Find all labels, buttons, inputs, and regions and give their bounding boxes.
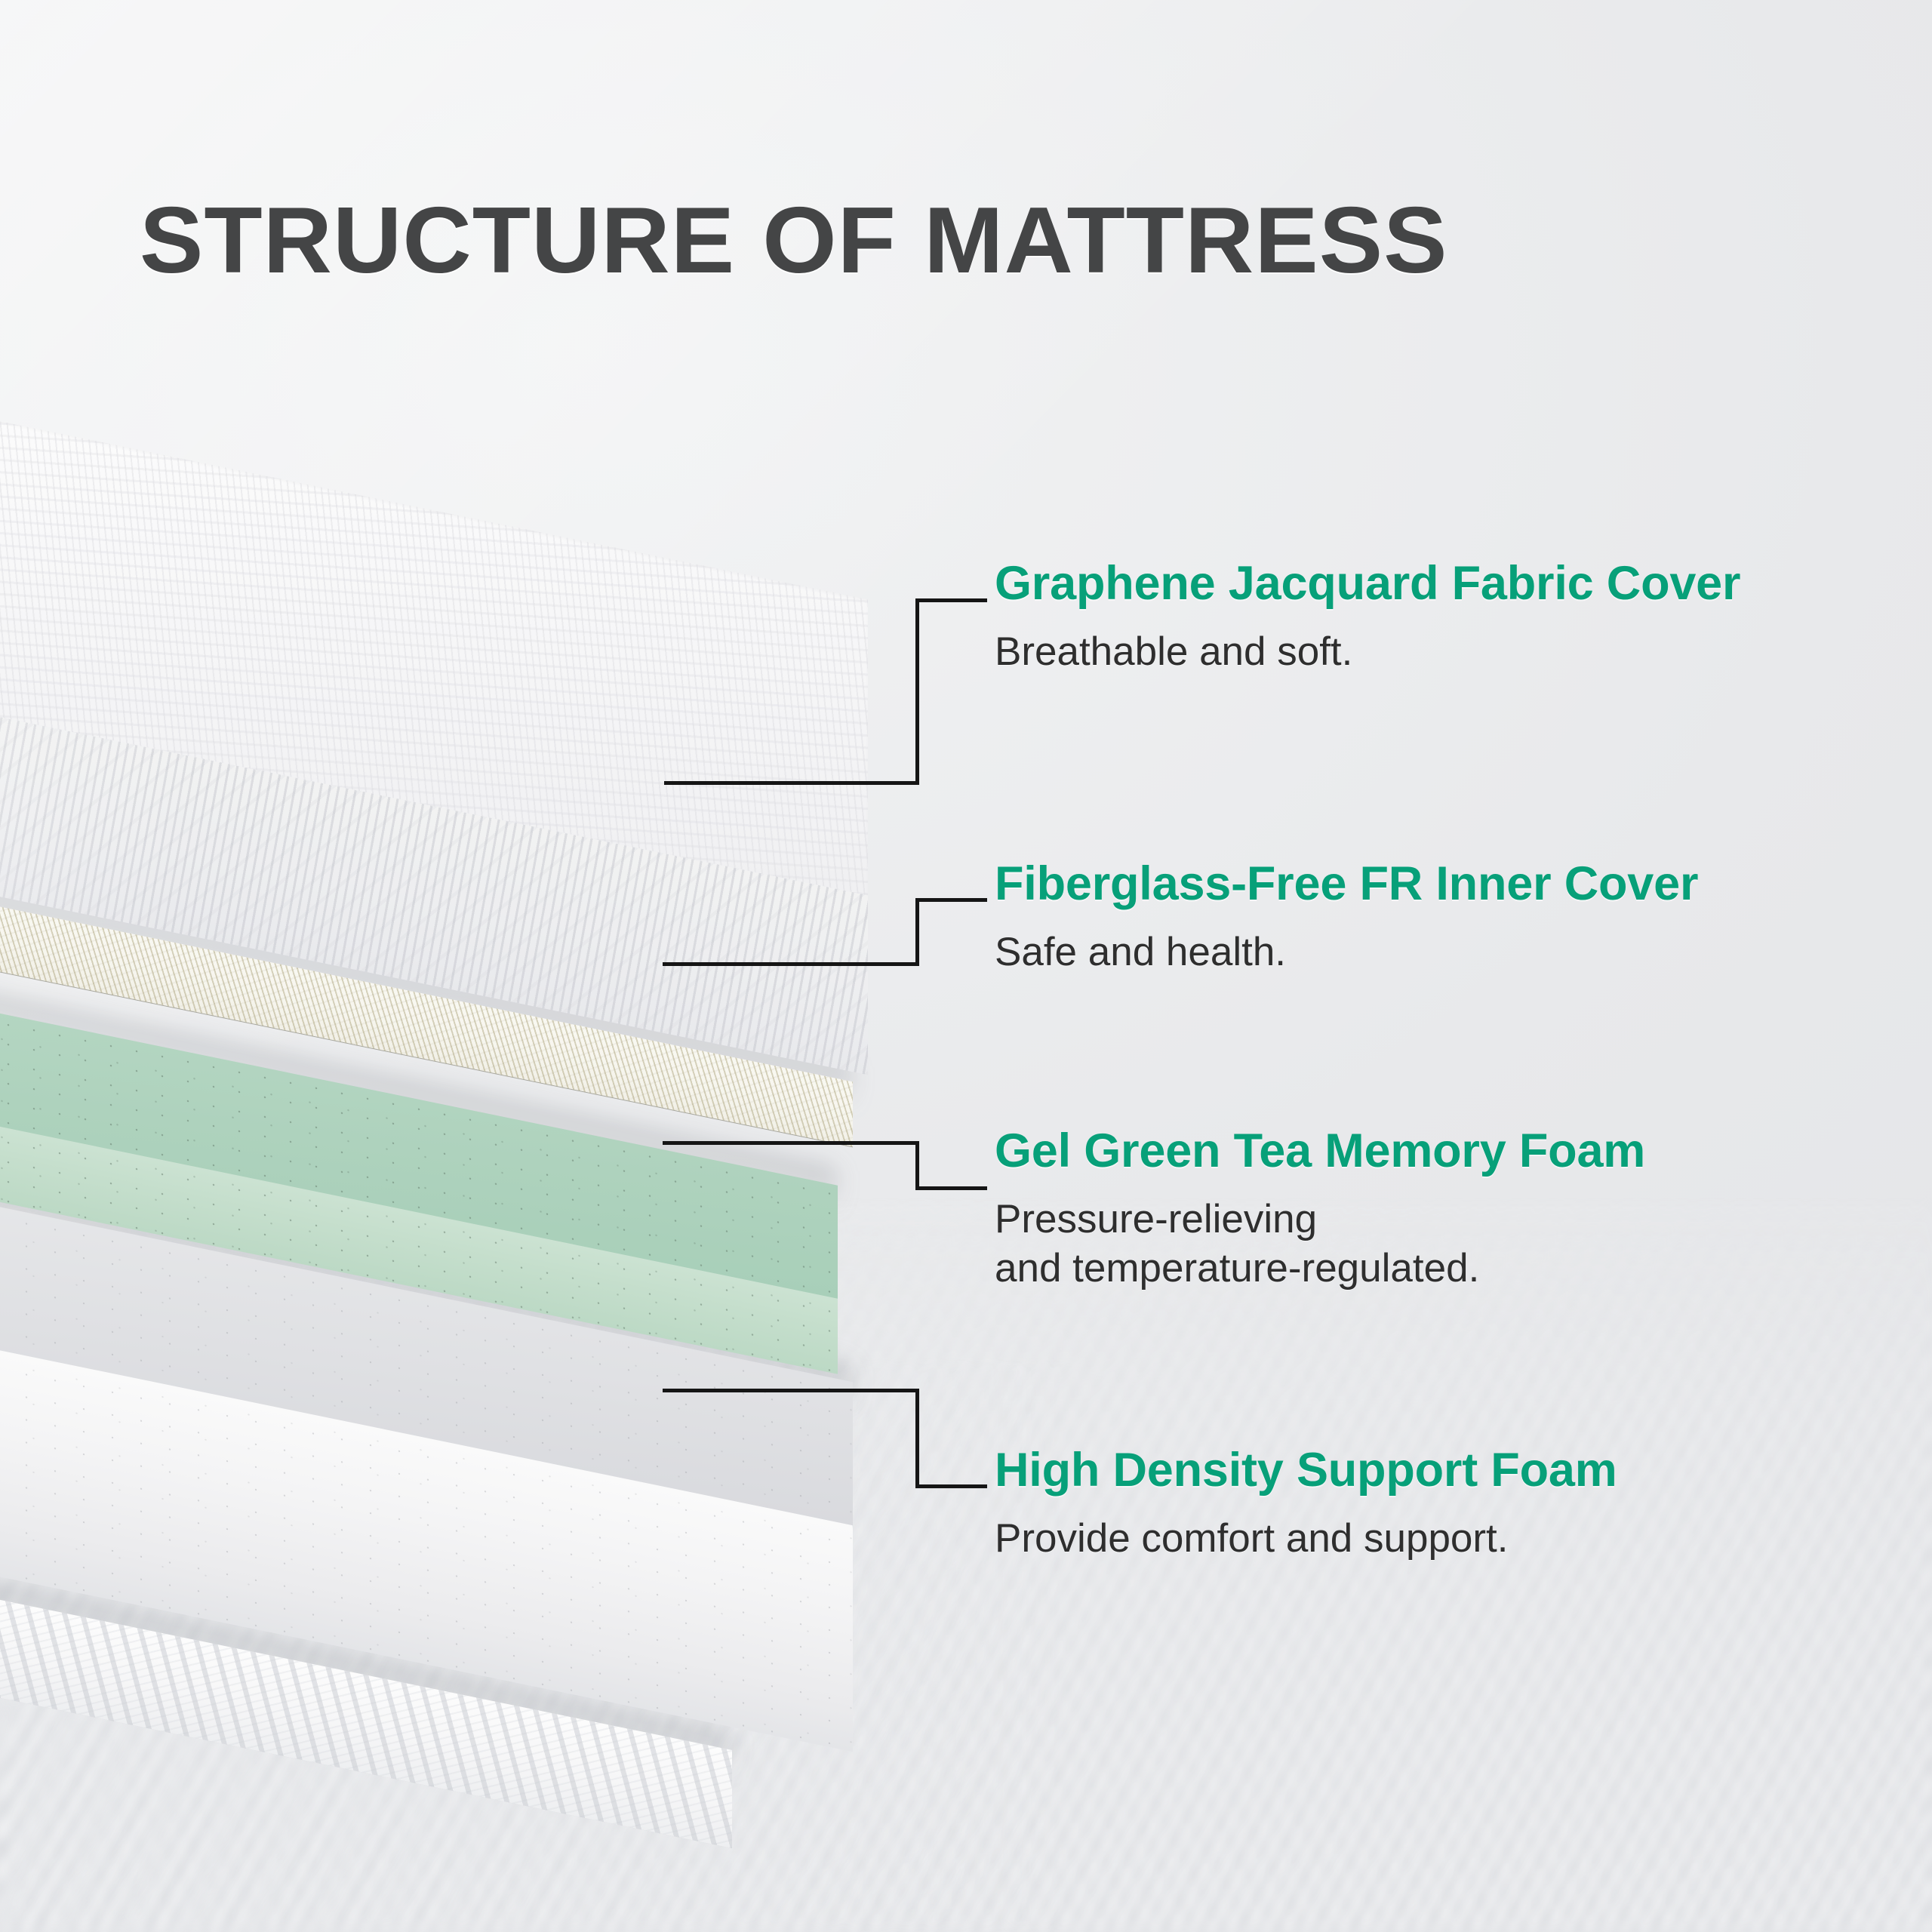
label-description: Provide comfort and support. — [995, 1515, 1617, 1564]
label-heading: Graphene Jacquard Fabric Cover — [995, 558, 1740, 608]
label-description: Breathable and soft. — [995, 628, 1740, 677]
label-high-density-support-foam: High Density Support Foam Provide comfor… — [995, 1445, 1617, 1564]
label-fiberglass-free-fr-inner-cover: Fiberglass-Free FR Inner Cover Safe and … — [995, 859, 1698, 977]
label-gel-green-tea-memory-foam: Gel Green Tea Memory Foam Pressure-relie… — [995, 1126, 1645, 1293]
infographic-stage: STRUCTURE OF MATTRESS — [0, 0, 1932, 1932]
label-graphene-jacquard-fabric-cover: Graphene Jacquard Fabric Cover Breathabl… — [995, 558, 1740, 677]
label-heading: Fiberglass-Free FR Inner Cover — [995, 859, 1698, 909]
label-description: Safe and health. — [995, 928, 1698, 977]
page-title: STRUCTURE OF MATTRESS — [140, 187, 1448, 294]
label-heading: High Density Support Foam — [995, 1445, 1617, 1495]
mattress-layer-stack — [0, 355, 853, 1789]
label-heading: Gel Green Tea Memory Foam — [995, 1126, 1645, 1176]
label-description: Pressure-relieving and temperature-regul… — [995, 1195, 1645, 1293]
